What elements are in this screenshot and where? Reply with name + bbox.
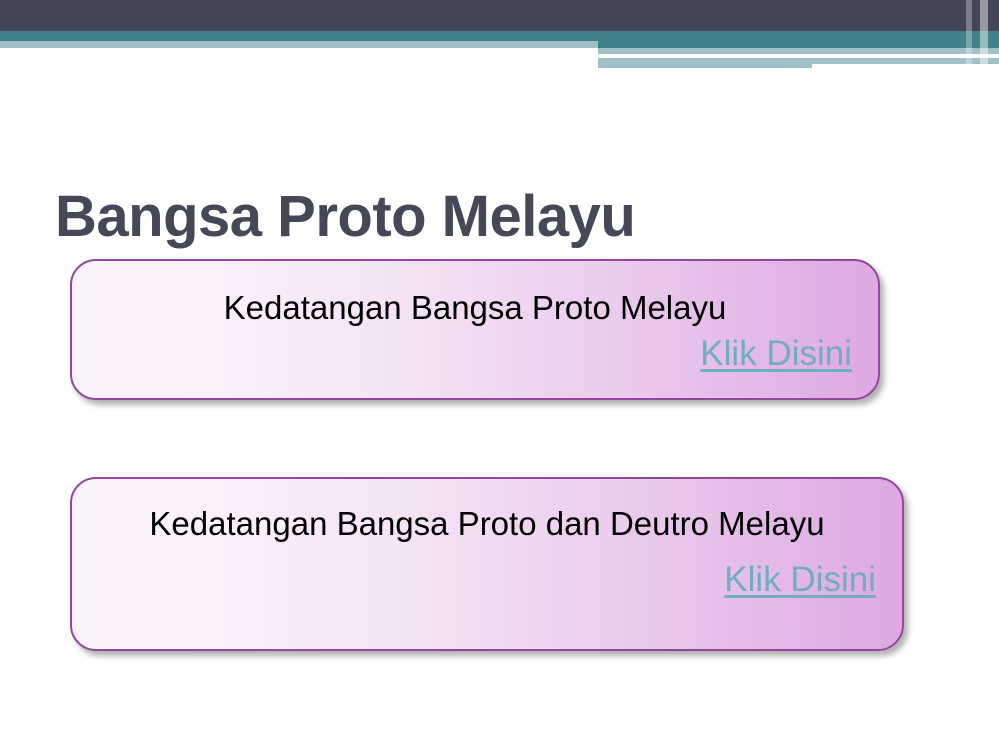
content-box-heading: Kedatangan Bangsa Proto dan Deutro Melay… [94,505,880,544]
banner-teal-bar-left [0,31,598,41]
content-box-proto-dan-deutro-melayu[interactable]: Kedatangan Bangsa Proto dan Deutro Melay… [70,477,904,651]
banner-dark-bar [0,0,999,31]
banner-teal-bar-right [598,31,999,48]
header-banner [0,0,999,80]
content-box-link-row: Klik Disini [94,560,880,600]
banner-pale-bar-left [0,41,598,48]
page-title: Bangsa Proto Melayu [55,187,635,248]
content-box-heading: Kedatangan Bangsa Proto Melayu [94,289,856,328]
klik-disini-link[interactable]: Klik Disini [700,334,856,374]
content-box-link-row: Klik Disini [94,334,856,374]
banner-accent-strip-b [980,0,988,68]
klik-disini-link[interactable]: Klik Disini [724,560,880,600]
presentation-slide: Bangsa Proto Melayu Kedatangan Bangsa Pr… [0,0,999,737]
banner-accent-strip-a [966,0,972,68]
content-box-proto-melayu[interactable]: Kedatangan Bangsa Proto Melayu Klik Disi… [70,259,880,400]
